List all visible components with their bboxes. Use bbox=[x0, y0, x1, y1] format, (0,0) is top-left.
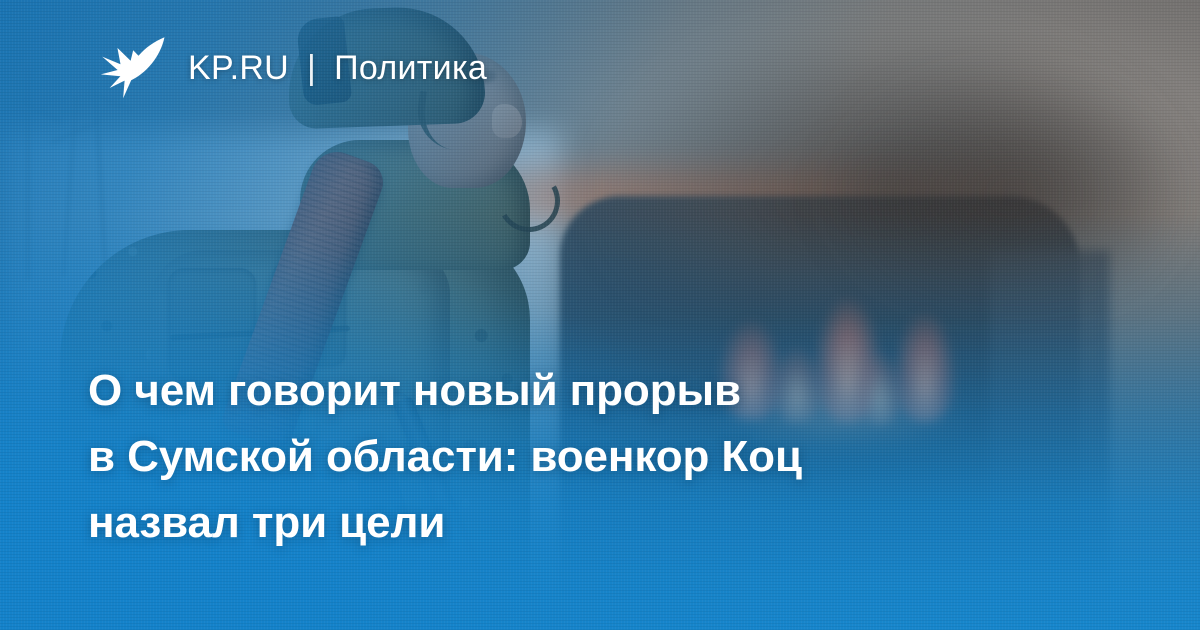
category-label[interactable]: Политика bbox=[334, 51, 487, 85]
headline-line-3: назвал три цели bbox=[88, 490, 1078, 556]
headline-line-2: в Сумской области: военкор Коц bbox=[88, 424, 1078, 490]
headline: О чем говорит новый прорыв в Сумской обл… bbox=[88, 358, 1078, 556]
brand-name[interactable]: KP.RU bbox=[188, 51, 289, 85]
headline-line-1: О чем говорит новый прорыв bbox=[88, 358, 1078, 424]
brand-text: KP.RU | Политика bbox=[188, 51, 487, 85]
kp-swallow-bird-logo[interactable] bbox=[100, 36, 166, 100]
brand-header: KP.RU | Политика bbox=[100, 36, 487, 100]
share-card: KP.RU | Политика О чем говорит новый про… bbox=[0, 0, 1200, 630]
brand-separator: | bbox=[307, 51, 316, 85]
